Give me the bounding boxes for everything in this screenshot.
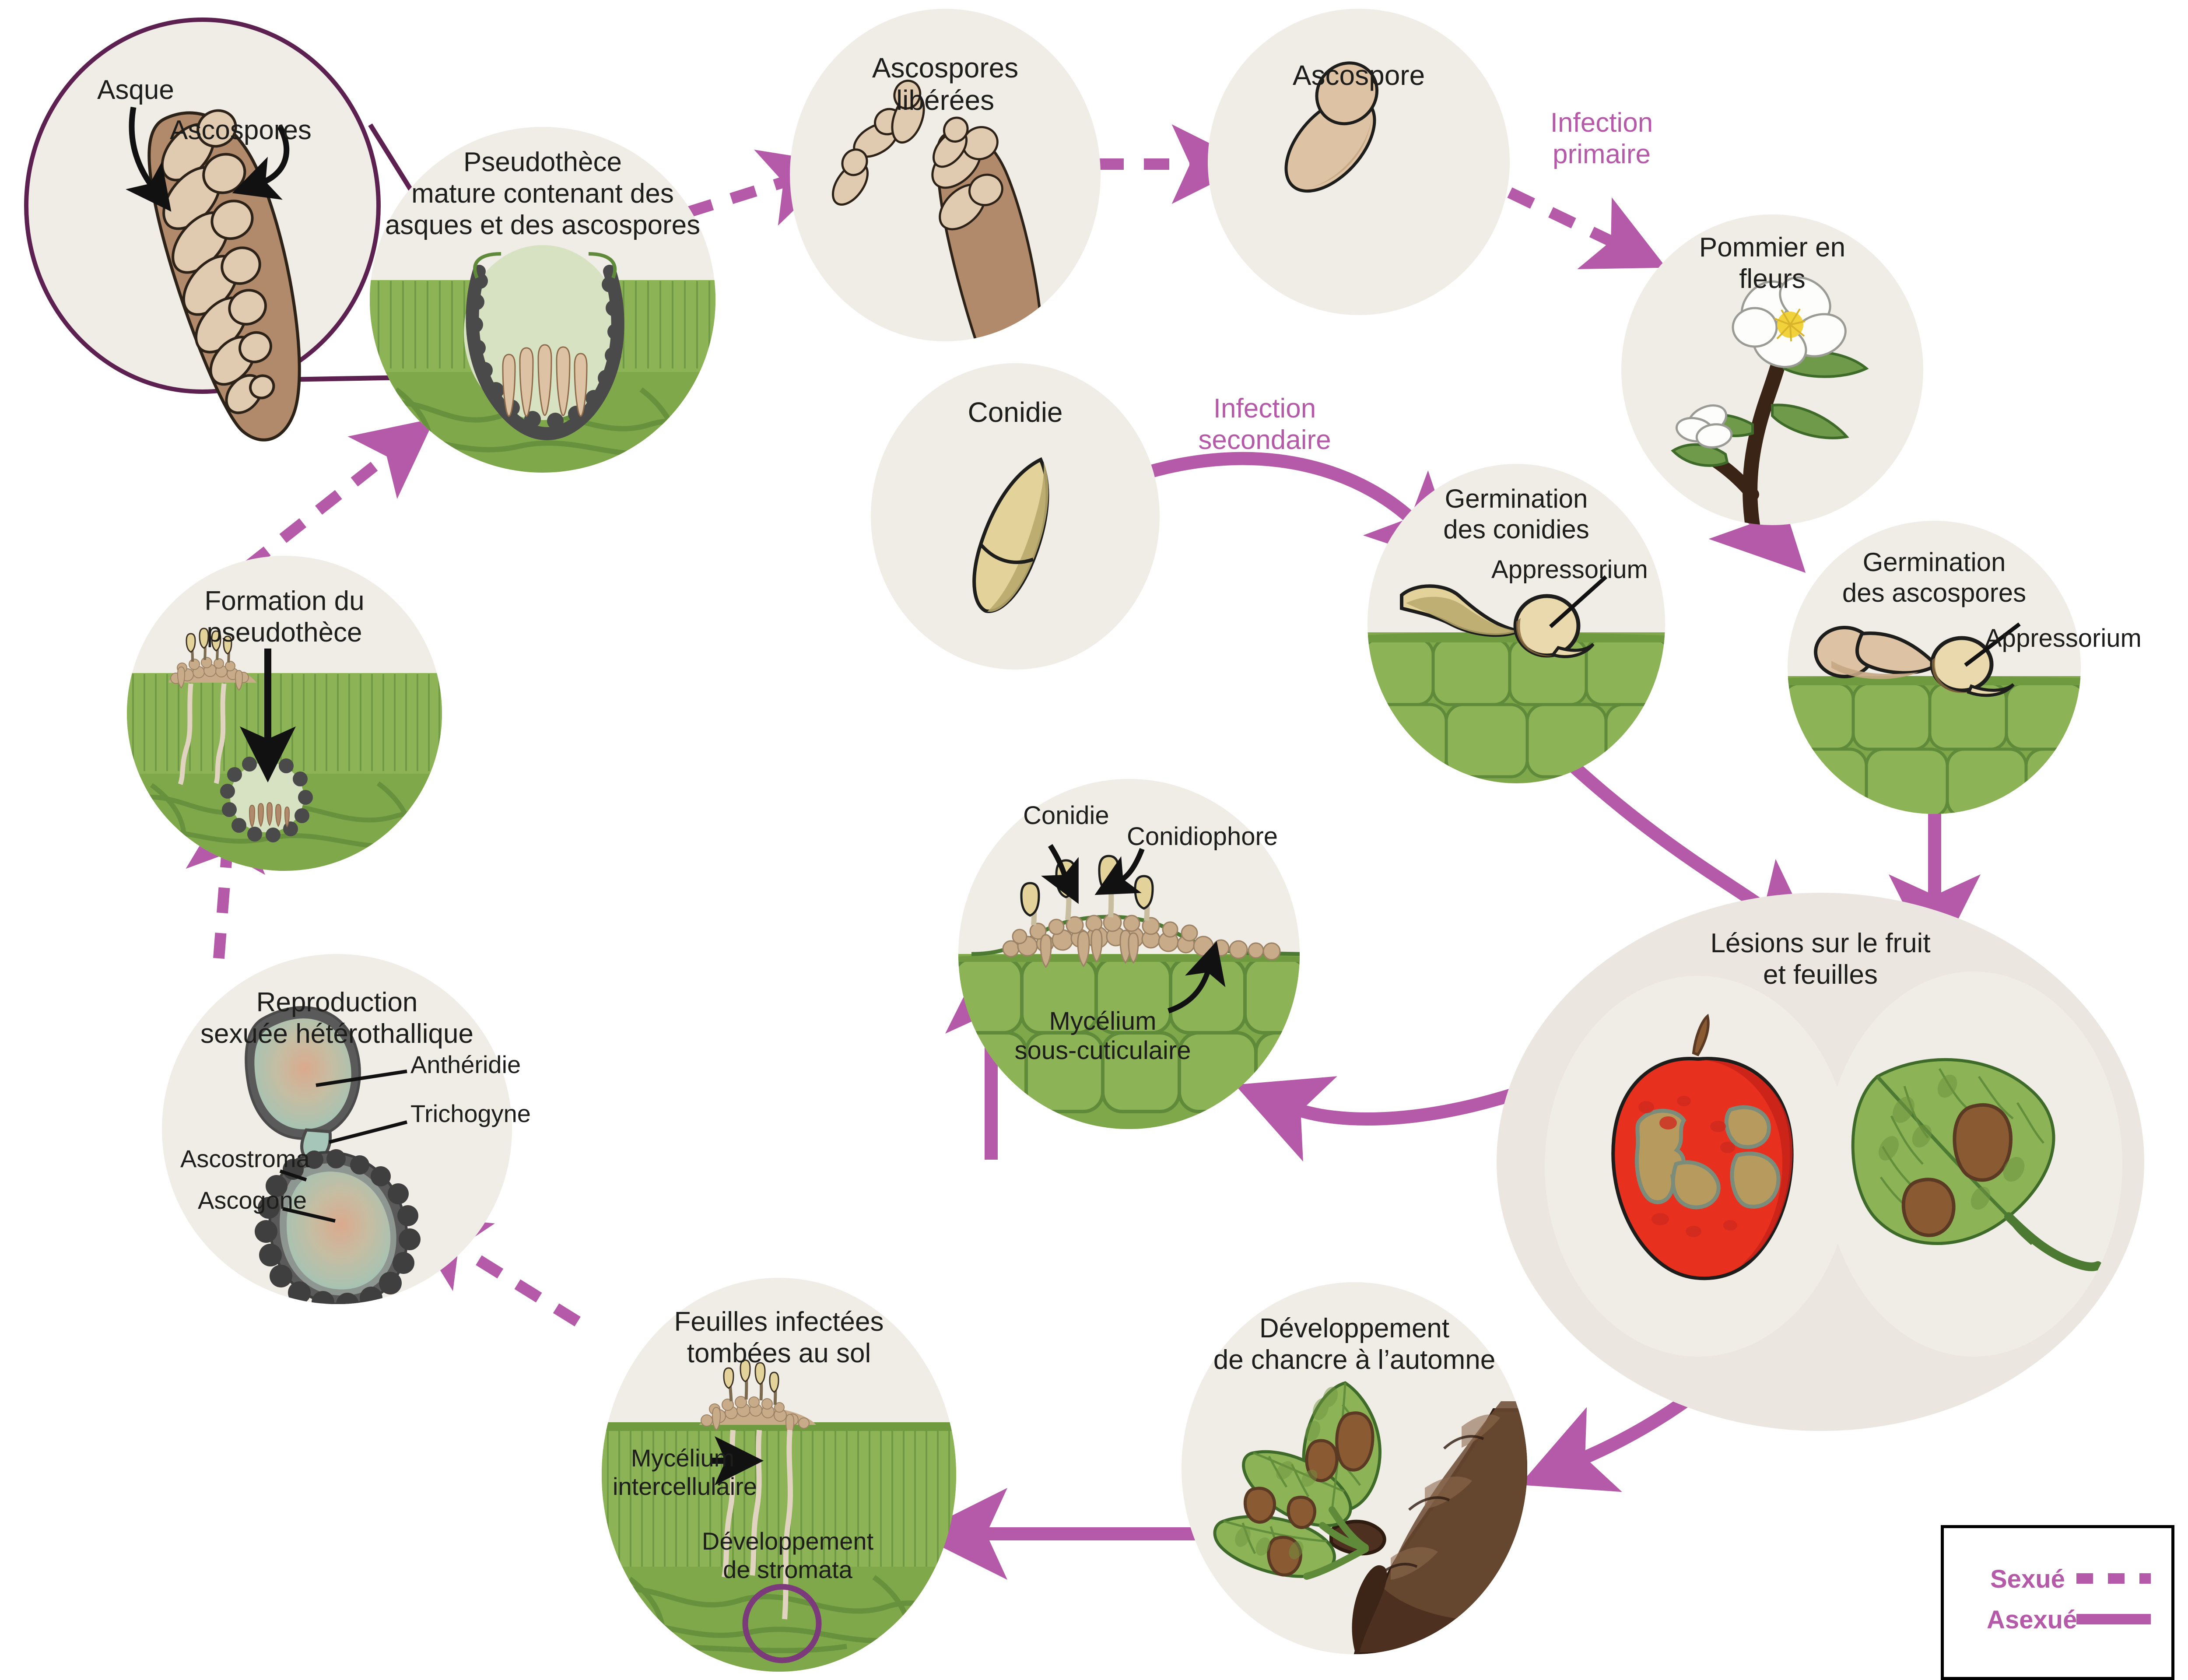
infected-leaves [1215,1383,1380,1576]
node-lesion-leaf [1825,972,2122,1357]
inset-label-ascospores: Ascospores [170,115,312,146]
label-pommier-en-fleurs: Pommier en fleurs [1621,232,1923,295]
callout-ascogone: Ascogone [198,1186,307,1214]
callout-developpement-stromata: Développement de stromata [683,1527,893,1584]
inset-label-asque: Asque [97,74,174,105]
callout-conidiophore: Conidiophore [1127,822,1278,851]
conidium-shape [959,450,1066,620]
label-pseudothece-mature: Pseudothèce mature contenant des asques … [370,147,715,241]
callout-antheridie: Anthéridie [410,1050,521,1079]
label-germination-conidies: Germination des conidies [1367,484,1665,544]
node-lesion-fruit [1545,976,1851,1357]
edge-label-infection-primaire: Infection primaire [1479,107,1724,170]
label-formation-pseudothece: Formation du pseudothèce [127,586,442,649]
legend-label-asexue: Asexué [1987,1605,2077,1634]
callout-mycelium-sous-cuticulaire: Mycélium sous-cuticulaire [1011,1007,1195,1066]
legend-label-sexue: Sexué [1990,1564,2065,1594]
epidermal-cells [1788,684,2081,814]
life-cycle-diagram: Asque Ascospores [0,0,2188,1676]
arrow-lesions-to-conidiophore [1291,1094,1514,1119]
epidermal-cells [1367,639,1665,777]
arrow-ascospore-to-pommier [1510,193,1619,245]
callout-trichogyne: Trichogyne [410,1099,531,1128]
edge-label-infection-secondaire: Infection secondaire [1142,393,1387,456]
node-inset-ascus [24,18,381,394]
label-reproduction-sexuee: Reproduction sexuée hétérothallique [144,987,529,1050]
callout-appressorium-ascospores: Appressorium [1985,624,2142,653]
node-ascospore [1208,9,1510,315]
label-conidie: Conidie [871,396,1160,428]
callout-ascostroma: Ascostroma [180,1144,310,1173]
callout-appressorium-conidies: Appressorium [1491,555,1648,584]
flower-bud [1675,400,1733,449]
surface-stroma [699,1360,816,1435]
callout-conidie: Conidie [1023,801,1109,830]
label-chancre: Développement de chancre à l’automne [1164,1313,1545,1376]
label-ascospore: Ascospore [1208,59,1510,91]
petiole [2009,1217,2098,1267]
label-feuilles-tombees: Feuilles infectées tombées au sol [602,1306,956,1369]
label-ascospores-liberees: Ascospores libérées [790,52,1101,116]
label-germination-ascospores: Germination des ascospores [1788,547,2081,608]
legend-box [1941,1525,2174,1680]
callout-mycelium-intercellulaire: Mycélium intercellulaire [613,1444,753,1501]
label-lesions: Lésions sur le fruit et feuilles [1497,928,2144,991]
conidiophores [1021,856,1153,967]
